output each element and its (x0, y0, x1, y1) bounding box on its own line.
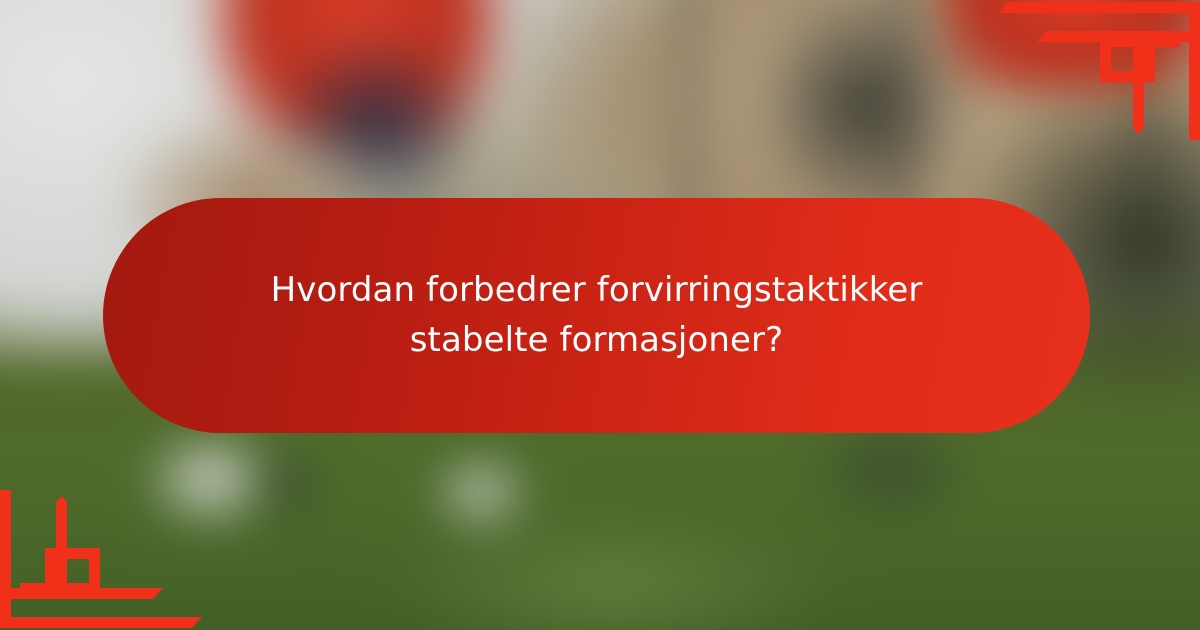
headline-card: Hvordan forbedrer forvirringstaktikker s… (103, 198, 1090, 433)
social-card-canvas: Hvordan forbedrer forvirringstaktikker s… (0, 0, 1200, 630)
background-shoe (244, 450, 323, 518)
headline-text: Hvordan forbedrer forvirringstaktikker s… (247, 266, 947, 365)
background-shoe (811, 420, 969, 518)
background-player-jersey (943, 0, 1200, 90)
background-grass (389, 510, 838, 630)
background-shadow (758, 0, 969, 225)
